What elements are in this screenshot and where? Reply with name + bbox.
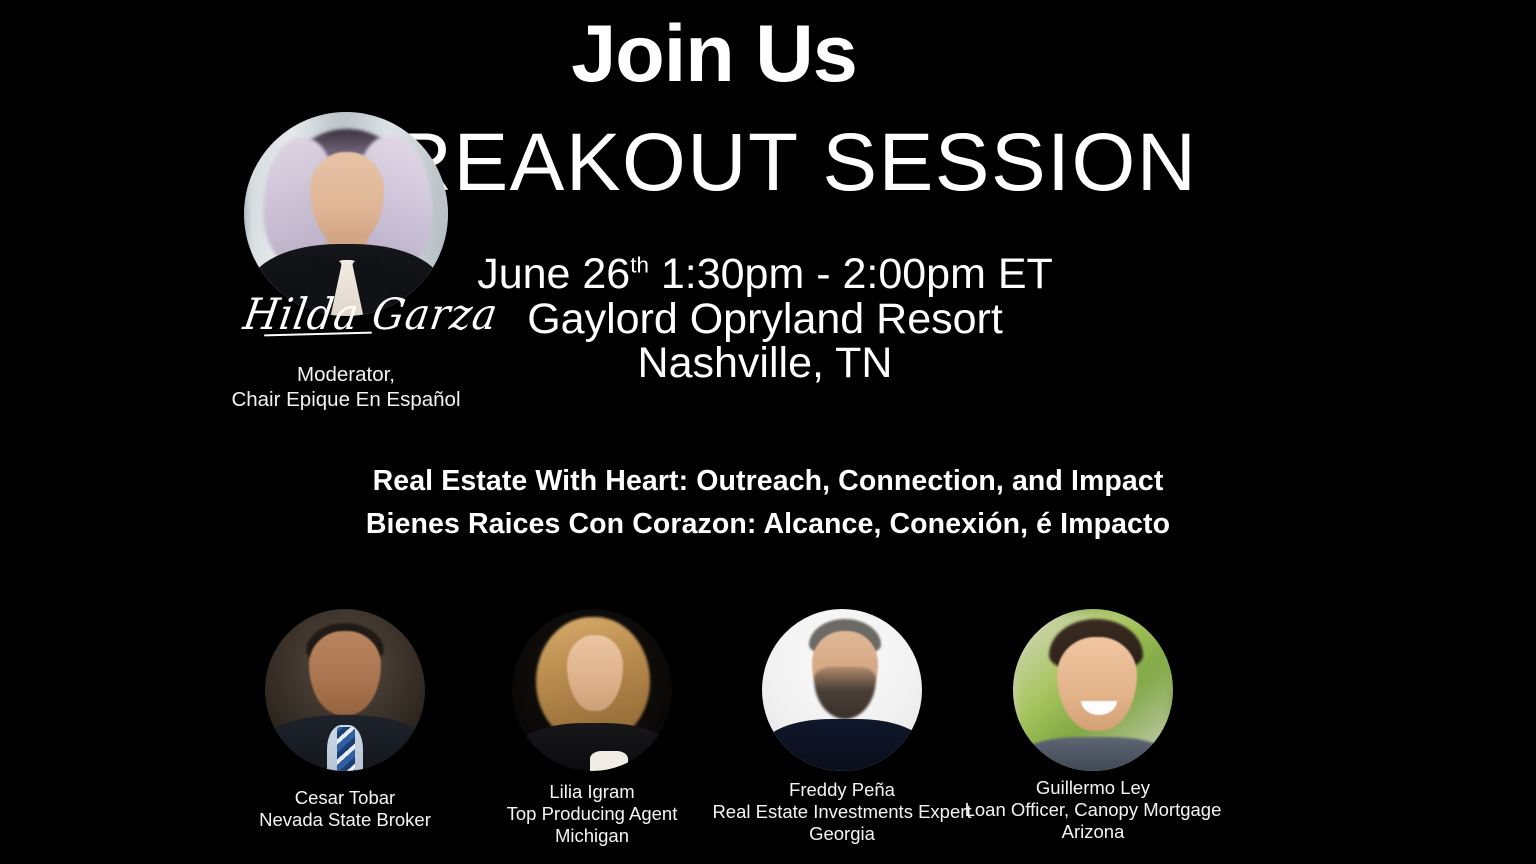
session-topic-english: Real Estate With Heart: Outreach, Connec… xyxy=(0,460,1536,503)
portrait-shirt xyxy=(764,719,922,771)
portrait-face xyxy=(309,631,381,715)
event-venue: Gaylord Opryland Resort xyxy=(0,297,1533,342)
avatar xyxy=(244,112,448,316)
portrait-inner-shirt xyxy=(590,751,628,771)
avatar xyxy=(265,609,425,771)
portrait-shirt xyxy=(1021,737,1169,771)
avatar xyxy=(762,609,922,771)
event-datetime: June 26th 1:30pm - 2:00pm ET xyxy=(0,252,1533,297)
moderator-role-line-1: Moderator, xyxy=(214,362,478,387)
portrait-tie xyxy=(337,727,355,771)
avatar xyxy=(1013,609,1173,771)
speaker-caption: Guillermo Ley Loan Officer, Canopy Mortg… xyxy=(923,777,1263,842)
date-ordinal-suffix: th xyxy=(630,253,649,278)
moderator-photo xyxy=(244,112,448,316)
subtitle-breakout-session: BREAKOUT SESSION xyxy=(0,122,1535,204)
speaker-location: Arizona xyxy=(923,821,1263,843)
moderator-signature: Hilda Garza xyxy=(244,292,448,348)
speaker-name: Guillermo Ley xyxy=(923,777,1263,799)
session-topic-spanish: Bienes Raices Con Corazon: Alcance, Cone… xyxy=(0,503,1536,546)
slide-canvas: Join Us BREAKOUT SESSION June 26th 1:30p… xyxy=(0,0,1536,864)
moderator-role: Moderator, Chair Epique En Español xyxy=(214,362,478,412)
speaker-card-cesar-tobar: Cesar Tobar Nevada State Broker xyxy=(265,609,425,771)
speaker-title: Loan Officer, Canopy Mortgage xyxy=(923,799,1263,821)
portrait-beard xyxy=(814,667,876,719)
moderator-role-line-2: Chair Epique En Español xyxy=(214,387,478,412)
session-topic: Real Estate With Heart: Outreach, Connec… xyxy=(0,460,1536,547)
page-title: Join Us xyxy=(0,14,1482,95)
speaker-card-guillermo-ley: Guillermo Ley Loan Officer, Canopy Mortg… xyxy=(1013,609,1173,771)
speaker-card-freddy-pena: Freddy Peña Real Estate Investments Expe… xyxy=(762,609,922,771)
speaker-card-lilia-igram: Lilia Igram Top Producing Agent Michigan xyxy=(512,609,672,771)
avatar xyxy=(512,609,672,771)
event-time: 1:30pm - 2:00pm ET xyxy=(649,250,1053,298)
